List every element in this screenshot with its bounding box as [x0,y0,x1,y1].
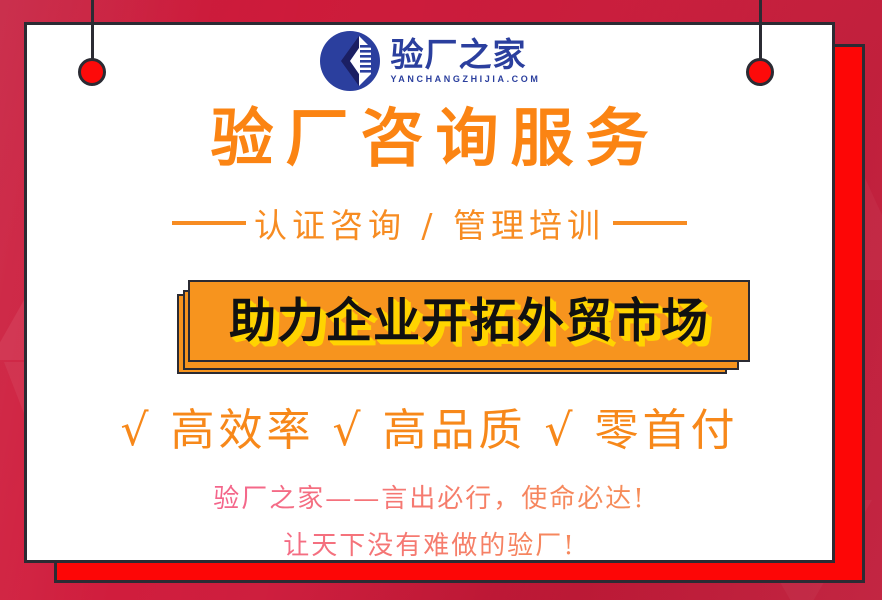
banner-text: 助力企业开拓外贸市场 [229,298,709,345]
poster-canvas: 验厂之家 YANCHANGZHIJIA.COM 验厂咨询服务 认证咨询 / 管理… [0,0,882,600]
highlight-banner: 助力企业开拓外贸市场 [177,280,747,378]
subtitle-line: 认证咨询 / 管理培训 [24,199,835,247]
banner-layer-front: 助力企业开拓外贸市场 [188,280,750,362]
subtitle-rule-left [172,221,246,225]
brand-name-cn: 验厂之家 [391,38,541,73]
slogan-line-1: 验厂之家——言出必行，使命必达! [24,478,835,515]
brand-domain: YANCHANGZHIJIA.COM [391,74,541,84]
brand-logo-row: 验厂之家 YANCHANGZHIJIA.COM [24,30,835,92]
red-bauble-icon-right [746,58,774,86]
subtitle-text: 认证咨询 / 管理培训 [254,206,605,245]
slogan-line-2: 让天下没有难做的验厂! [24,525,835,562]
red-bauble-icon-left [78,58,106,86]
card-content: 验厂之家 YANCHANGZHIJIA.COM 验厂咨询服务 认证咨询 / 管理… [24,22,835,563]
features-line: √ 高效率 √ 高品质 √ 零首付 [24,394,835,458]
brand-text-block: 验厂之家 YANCHANGZHIJIA.COM [391,38,541,85]
page-title: 验厂咨询服务 [24,104,835,175]
yanchangzhijia-logo-icon [319,30,381,92]
subtitle-rule-right [613,221,687,225]
